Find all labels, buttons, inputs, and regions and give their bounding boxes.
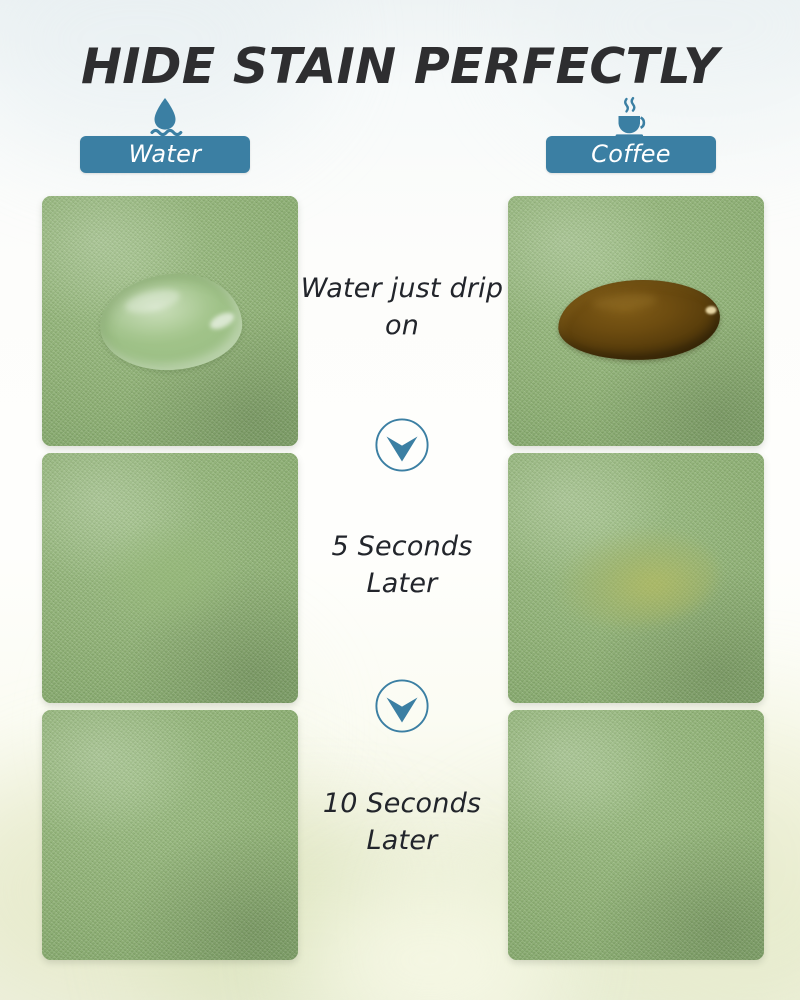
- stain-resistance-infographic: HIDE STAIN PERFECTLY Water Coffee: [0, 0, 800, 1000]
- fabric-texture: [508, 196, 764, 446]
- column-header-water: Water: [80, 96, 250, 174]
- swatch-coffee-step-3: [508, 710, 764, 960]
- step-caption-1: Water just drip on: [300, 270, 504, 345]
- step-caption-2: 5 Seconds Later: [300, 528, 504, 603]
- water-drop-icon: [144, 96, 186, 140]
- chevron-down-circle-icon: [374, 417, 430, 473]
- column-label-coffee: Coffee: [591, 142, 671, 166]
- step-caption-column: Water just drip on 5 Seconds Later 10 Se…: [300, 196, 504, 960]
- badge-pill-coffee: Coffee: [546, 136, 716, 173]
- fabric-texture: [42, 196, 298, 446]
- swatch-water-step-2: [42, 453, 298, 703]
- badge-pill-water: Water: [80, 136, 250, 173]
- fabric-texture: [508, 453, 764, 703]
- chevron-down-circle-icon: [374, 678, 430, 734]
- swatch-water-step-3: [42, 710, 298, 960]
- fabric-texture: [42, 710, 298, 960]
- step-caption-3: 10 Seconds Later: [300, 785, 504, 860]
- column-header-coffee: Coffee: [546, 96, 716, 174]
- fabric-texture: [508, 710, 764, 960]
- swatch-water-step-1: [42, 196, 298, 446]
- coffee-cup-icon: [610, 96, 652, 140]
- page-title: HIDE STAIN PERFECTLY: [0, 42, 800, 91]
- swatch-coffee-step-2: [508, 453, 764, 703]
- fabric-texture: [42, 453, 298, 703]
- column-label-water: Water: [129, 142, 202, 166]
- swatch-coffee-step-1: [508, 196, 764, 446]
